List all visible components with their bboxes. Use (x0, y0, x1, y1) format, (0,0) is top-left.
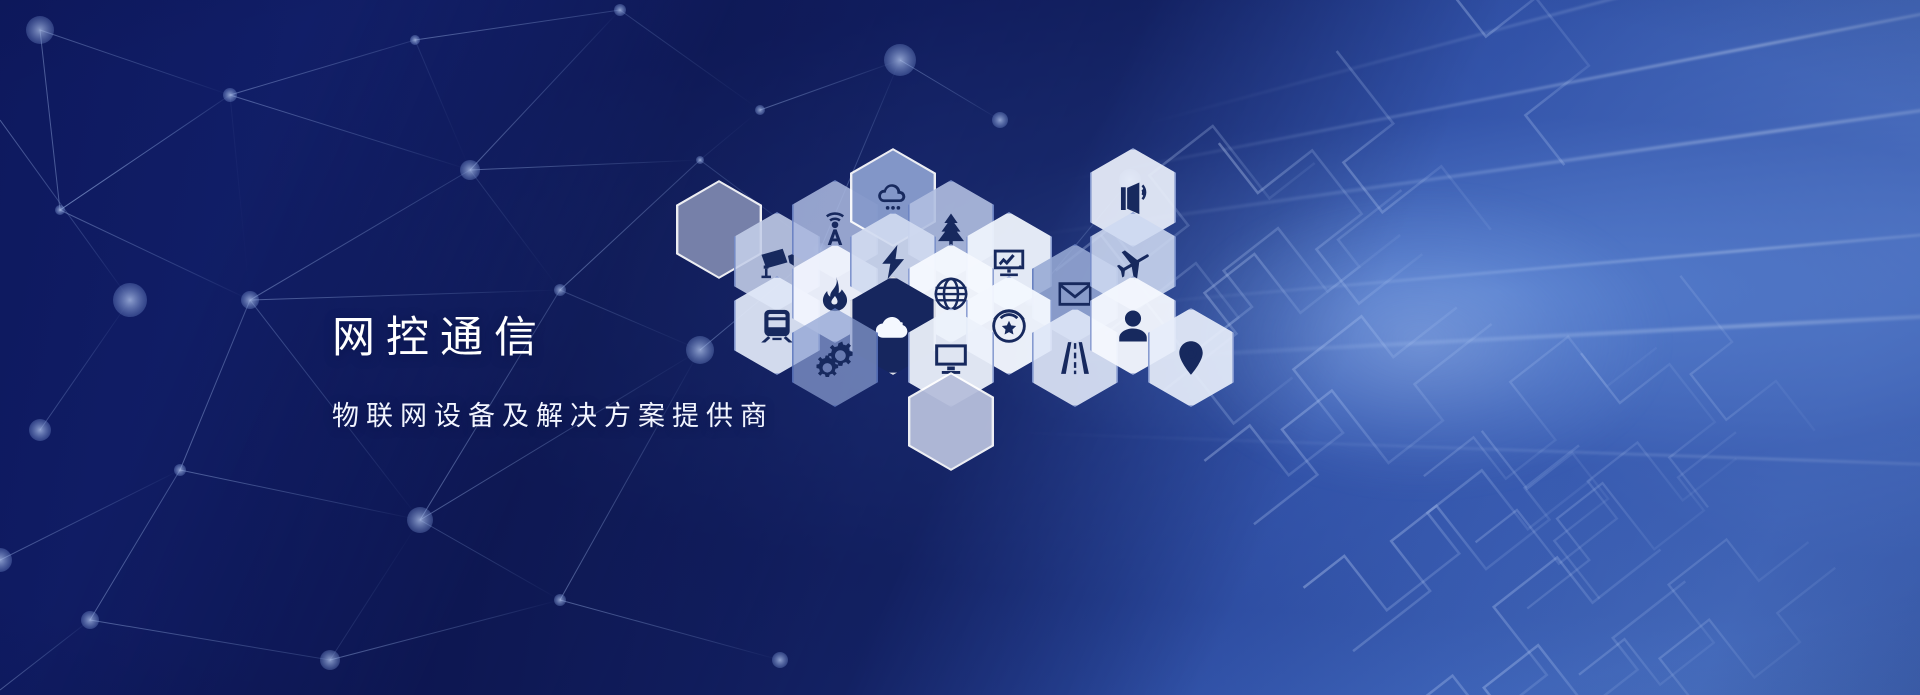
page-title: 网控通信 (332, 312, 774, 366)
cloud-rain-icon (874, 179, 912, 217)
globe-icon (932, 275, 970, 313)
user-person-icon (1114, 307, 1152, 345)
pine-tree-icon (932, 211, 970, 249)
hexagon-icon-grid (0, 0, 1920, 695)
airplane-icon (1114, 243, 1152, 281)
chart-monitor-icon (990, 243, 1028, 281)
envelope-icon (1056, 275, 1094, 313)
hero-text-block: 网控通信 物联网设备及解决方案提供商 (332, 312, 774, 434)
police-badge-icon (990, 307, 1028, 345)
cloud-server-icon (874, 307, 912, 345)
lightning-bolt-icon (874, 243, 912, 281)
map-pin-icon (1172, 339, 1210, 377)
road-icon (1056, 339, 1094, 377)
page-subtitle: 物联网设备及解决方案提供商 (332, 399, 774, 434)
fire-flame-icon (816, 275, 854, 313)
antenna-tower-icon (816, 211, 854, 249)
broadcast-speaker-icon (1114, 179, 1152, 217)
hero-banner: 网控通信 物联网设备及解决方案提供商 (0, 0, 1920, 695)
gears-icon (816, 339, 854, 377)
desktop-monitor-icon (932, 339, 970, 377)
video-camera-icon (758, 243, 796, 281)
